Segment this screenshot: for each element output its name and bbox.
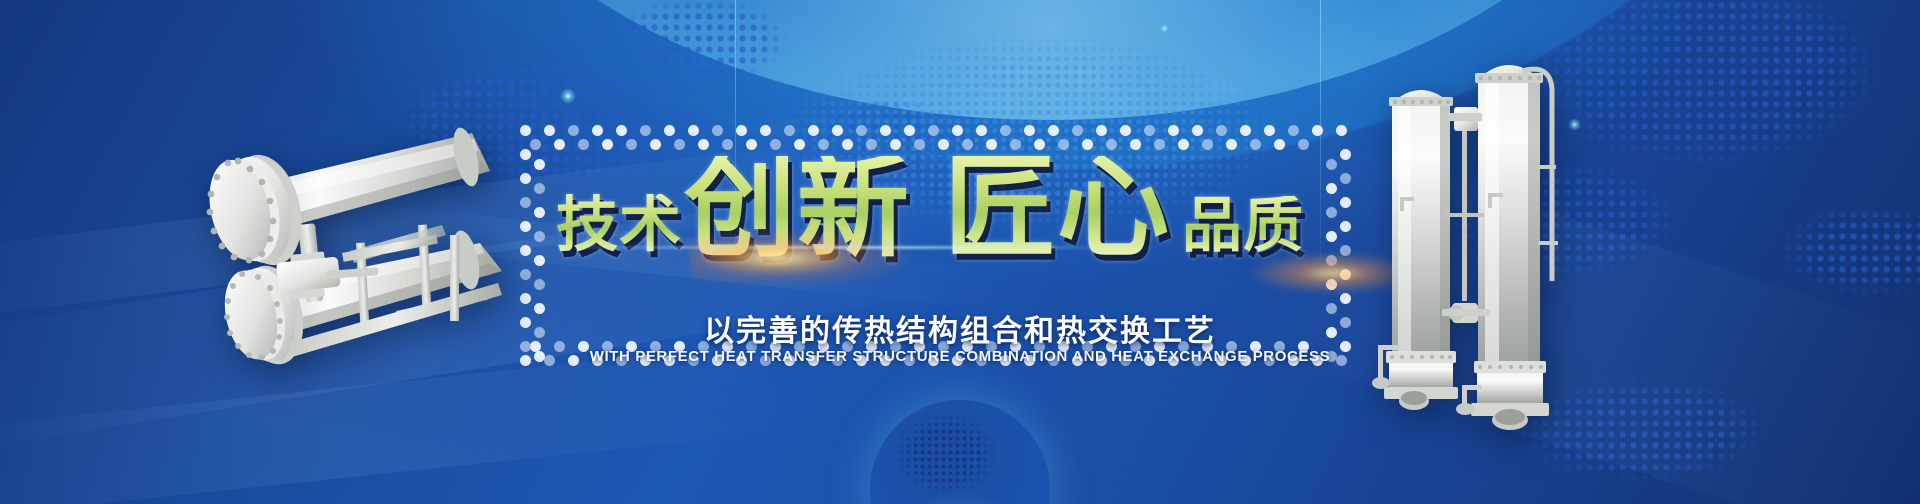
frame-dot (534, 207, 545, 218)
frame-dot (1340, 173, 1351, 184)
headline-tail: 品质 (1182, 196, 1304, 256)
hero-banner: 技术 创新 匠心 品质 以完善的传热结构组合和热交换工艺 WITH PERFEC… (0, 0, 1920, 504)
frame-dot (534, 255, 545, 266)
frame-dot (534, 159, 545, 170)
frame-dot (1326, 231, 1337, 242)
lens-flare-streak (560, 246, 1120, 249)
frame-dot (534, 279, 545, 290)
frame-dot (1340, 149, 1351, 160)
sparkle-dot (1160, 24, 1169, 33)
frame-dot (1336, 125, 1347, 136)
frame-dot (1340, 221, 1351, 232)
frame-dot (534, 231, 545, 242)
frame-dot (534, 183, 545, 194)
frame-dot (530, 139, 541, 150)
product-image-horizontal-heat-exchanger: 两台卧式管壳式换热器 (150, 75, 530, 405)
headline-main: 创新 (684, 156, 910, 260)
frame-dot (1326, 183, 1337, 194)
sparkle-dot (560, 88, 576, 104)
headline: 技术 创新 匠心 品质 (556, 128, 1316, 260)
frame-dot (1326, 159, 1337, 170)
frame-dot (1326, 207, 1337, 218)
frame-dot (544, 125, 555, 136)
frame-dot (1340, 197, 1351, 208)
product-image-vertical-heat-exchanger: 两台立式塔式换热器 (1370, 45, 1580, 445)
headline-second: 匠心 (944, 156, 1170, 260)
